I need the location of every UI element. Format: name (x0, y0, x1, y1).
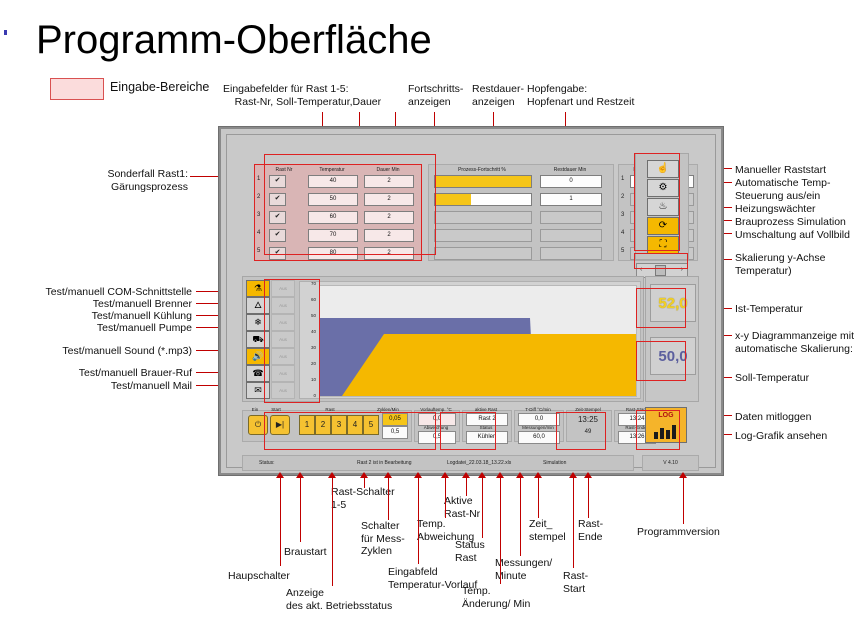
header-ein: Ein (246, 407, 264, 412)
callout-skalierung-y: Skalierung y-Achse Temperatur) (735, 252, 825, 277)
rast-temp-3[interactable]: 60 (308, 211, 358, 224)
braustart-button[interactable]: ▶| (270, 415, 290, 435)
leader-arrow (384, 472, 392, 478)
simulation-button[interactable]: ⟳ (647, 217, 679, 235)
leader-arrow (679, 472, 687, 478)
leader-line (300, 478, 301, 542)
leader-arrow (516, 472, 524, 478)
chevron-right-icon[interactable]: › (681, 265, 683, 274)
rast-checkbox-4[interactable]: ✔ (269, 229, 286, 242)
callout-braustart: Braustart (284, 546, 327, 559)
leader-arrow (441, 472, 449, 478)
callout-heizungswaechter: Heizungswächter (735, 203, 816, 216)
status-bar: Status: Rast 2 ist in Bearbeitung Logdat… (242, 455, 697, 469)
status-mode: Simulation (543, 456, 566, 470)
snowflake-icon: ❄ (254, 318, 262, 327)
status-slot-2: Aus (271, 297, 295, 314)
chart-y-tick: 30 (311, 345, 316, 350)
heizungswaechter-button[interactable]: ♨ (647, 198, 679, 216)
slider-thumb[interactable] (655, 265, 666, 276)
progress-bar-2 (434, 193, 532, 206)
status-label: Status: (259, 456, 275, 470)
progress-bar-3 (434, 211, 532, 224)
log-button-label: LOG (646, 408, 686, 422)
status-bar-main: Status: Rast 2 ist in Bearbeitung Logdat… (242, 455, 634, 471)
progress-bar-1 (434, 175, 532, 188)
callout-zeitstempel: Zeit_ stempel (529, 518, 566, 543)
bar-chart-icon (652, 423, 680, 439)
callout-restdauer: Restdauer- anzeigen (472, 83, 524, 108)
application-window[interactable]: Rast Nr Temperatur Dauer Min 1 ✔ 40 2 2 … (219, 127, 723, 475)
header-vorlauftemp: Vorlauftemp. °C (414, 407, 458, 412)
chart-y-tick: 50 (311, 313, 316, 318)
header-zeitstempel: Zeit-Stempel (566, 407, 610, 412)
leader-arrow (328, 472, 336, 478)
zyklen-value-top[interactable]: 0,05 (382, 413, 408, 426)
com-button[interactable]: ⚗ (246, 280, 270, 297)
leader-line (588, 478, 589, 518)
header-aktive-rast: aktive Rast (462, 407, 510, 412)
brauerruf-button[interactable]: ☎ (246, 365, 270, 382)
leader-line (364, 478, 365, 488)
rast-checkbox-1[interactable]: ✔ (269, 175, 286, 188)
leader-line (332, 478, 333, 586)
refresh-icon: ⟳ (659, 221, 667, 231)
mode-button-panel: ☝ ⚙ ♨ ⟳ ⛶ (635, 153, 689, 260)
rast-dauer-3[interactable]: 2 (364, 211, 414, 224)
rast-checkbox-3[interactable]: ✔ (269, 211, 286, 224)
callout-vollbild: Umschaltung auf Vollbild (735, 229, 850, 242)
leader-line (538, 478, 539, 518)
leader-arrow (534, 472, 542, 478)
header-abweichung: Abweichung (414, 425, 458, 430)
chart-y-tick: 10 (311, 377, 316, 382)
header-prozess-fortschritt: Prozess-Fortschritt % (432, 167, 532, 173)
header-restdauer: Restdauer Min (538, 167, 602, 173)
header-status-rast: Status (462, 425, 510, 430)
chevron-left-icon[interactable]: ‹ (640, 265, 642, 274)
leader-arrow (569, 472, 577, 478)
rast-button-5[interactable]: 5 (363, 415, 379, 435)
status-slot-1: Aus (271, 280, 295, 297)
leader-line (573, 478, 574, 568)
restdauer-3 (540, 211, 602, 224)
callout-haupschalter: Haupschalter (228, 570, 290, 583)
rast-dauer-1[interactable]: 2 (364, 175, 414, 188)
callout-xy-diagramm: x-y Diagrammanzeige mit automatische Ska… (735, 330, 854, 355)
temperature-chart[interactable]: 010203040506070 (299, 281, 641, 399)
hopfen-row-2: 2 (621, 194, 624, 200)
callout-test-com: Test/manuell COM-Schnittstelle (30, 286, 192, 299)
leader-line (280, 478, 281, 566)
sound-button[interactable]: 🔊 (246, 348, 270, 365)
leader-arrow (462, 472, 470, 478)
pumpe-button[interactable]: ⛟ (246, 331, 270, 348)
callout-daten-mitloggen: Daten mitloggen (735, 411, 811, 424)
status-slot-5: Aus (271, 348, 295, 365)
chart-y-tick: 40 (311, 329, 316, 334)
power-icon: ⏻ (255, 420, 261, 429)
plug-icon: ⚗ (254, 284, 262, 293)
chart-y-axis: 010203040506070 (302, 284, 318, 396)
chart-y-tick: 20 (311, 361, 316, 366)
rast-checkbox-2[interactable]: ✔ (269, 193, 286, 206)
header-temperatur: Temperatur (308, 167, 356, 173)
leader-line (445, 478, 446, 518)
callout-temp-aenderung: Temp. Änderung/ Min (462, 585, 530, 610)
callout-test-pumpe: Test/manuell Pumpe (30, 322, 192, 335)
legend-swatch (50, 78, 104, 100)
leader-arrow (496, 472, 504, 478)
callout-test-sound: Test/manuell Sound (*.mp3) (30, 345, 192, 358)
callout-brauprozess-simulation: Brauprozess Simulation (735, 216, 846, 229)
callout-schalter-mess-zyklen: Schalter für Mess- Zyklen (361, 520, 405, 558)
abweichung-value: 0,5 (418, 431, 456, 444)
leader-line (466, 478, 467, 496)
chart-y-tick: 0 (313, 393, 316, 398)
kuehlung-button[interactable]: ❄ (246, 314, 270, 331)
pump-icon: ⛟ (252, 335, 263, 344)
rast-button-2[interactable]: 2 (315, 415, 331, 435)
callout-messungen-minute: Messungen/ Minute (495, 557, 552, 582)
rast-checkbox-5[interactable]: ✔ (269, 247, 286, 260)
callout-hopfengabe: Hopfengabe: Hopfenart und Restzeit (527, 83, 634, 108)
status-slot-6: Aus (271, 365, 295, 382)
status-slot-3: Aus (271, 314, 295, 331)
rast-button-3[interactable]: 3 (331, 415, 347, 435)
hopfen-row-1: 1 (621, 176, 624, 182)
callout-programmversion: Programmversion (637, 526, 720, 539)
leader-arrow (414, 472, 422, 478)
hopfen-row-5: 5 (621, 248, 624, 254)
play-icon: ▶| (276, 420, 284, 429)
fullscreen-icon: ⛶ (660, 240, 667, 250)
mail-icon: ✉ (254, 386, 262, 395)
callout-anzeige-betriebsstatus: Anzeige des akt. Betriebsstatus (286, 587, 392, 612)
callout-fortschritt: Fortschritts- anzeigen (408, 83, 463, 108)
callout-aktive-rast-nr: Aktive Rast-Nr (444, 495, 480, 520)
leader-arrow (584, 472, 592, 478)
restdauer-4 (540, 229, 602, 242)
row-number: 2 (257, 194, 260, 200)
phone-icon: ☎ (252, 369, 263, 378)
rast-dauer-4[interactable]: 2 (364, 229, 414, 242)
vollbild-button[interactable]: ⛶ (647, 236, 679, 254)
rast-temp-4[interactable]: 70 (308, 229, 358, 242)
rast-table-block: Rast Nr Temperatur Dauer Min 1 ✔ 40 2 2 … (242, 153, 697, 258)
progress-bar-5 (434, 247, 532, 260)
application-panel: Rast Nr Temperatur Dauer Min 1 ✔ 40 2 2 … (226, 134, 716, 468)
series-ist-area (342, 334, 636, 396)
decorative-dot (4, 30, 7, 35)
chart-y-tick: 70 (311, 281, 316, 286)
status-message: Rast 2 ist in Bearbeitung (357, 456, 411, 470)
leader-arrow (478, 472, 486, 478)
header-rast: Rast (300, 407, 360, 412)
row-number: 5 (257, 248, 260, 254)
callout-test-brenner: Test/manuell Brenner (30, 298, 192, 311)
header-dauer: Dauer Min (364, 167, 412, 173)
rast-temp-5[interactable]: 80 (308, 247, 358, 260)
auto-temp-button[interactable]: ⚙ (647, 179, 679, 197)
temperature-readout-panel: 52,0 50,0 (645, 276, 699, 402)
restdauer-1: 0 (540, 175, 602, 188)
header-zyklen: Zyklen/Min (368, 407, 408, 412)
status-slot-4: Aus (271, 331, 295, 348)
zeitstempel-value: 13:25 (572, 415, 604, 424)
leader-line (482, 478, 483, 538)
header-rast-nr: Rast Nr (266, 167, 302, 173)
status-rast-value: Kühlen (466, 431, 508, 444)
callout-eingabefelder: Eingabefelder für Rast 1-5: Rast-Nr, Sol… (223, 83, 381, 108)
row-number: 1 (257, 176, 260, 182)
callout-manueller-raststart: Manueller Raststart (735, 164, 826, 177)
leader-line (418, 478, 419, 564)
rast-button-1[interactable]: 1 (299, 415, 315, 435)
chart-svg (320, 286, 636, 396)
row-number: 3 (257, 212, 260, 218)
callout-status-rast: Status Rast (455, 539, 485, 564)
ist-temperatur-value: 52,0 (650, 284, 696, 322)
status-version: V 4.10 (642, 455, 699, 471)
callout-test-kuehlung: Test/manuell Kühlung (30, 310, 192, 323)
chart-block: ⚗ 🜂 ❄ ⛟ 🔊 ☎ ✉ Aus Aus Aus Aus Aus Aus Au… (242, 276, 644, 402)
leader-arrow (296, 472, 304, 478)
rast-dauer-5[interactable]: 2 (364, 247, 414, 260)
callout-log-grafik: Log-Grafik ansehen (735, 430, 827, 443)
leader-arrow (360, 472, 368, 478)
hopfen-row-3: 3 (621, 212, 624, 218)
rast-temp-1[interactable]: 40 (308, 175, 358, 188)
rast-temp-2[interactable]: 50 (308, 193, 358, 206)
mail-button[interactable]: ✉ (246, 382, 270, 399)
header-tdiff: T-Diff °C/min (514, 407, 562, 412)
status-slot-7: Aus (271, 382, 295, 399)
log-button[interactable]: LOG (645, 407, 687, 443)
progress-bar-4 (434, 229, 532, 242)
page-title: Programm-Oberfläche (36, 18, 432, 63)
rast-dauer-2[interactable]: 2 (364, 193, 414, 206)
callout-auto-temp: Automatische Temp- Steuerung aus/ein (735, 177, 831, 202)
legend-label: Eingabe-Bereiche (110, 80, 209, 94)
header-start: Start (266, 407, 286, 412)
zyklen-value-bottom[interactable]: 0,5 (382, 426, 408, 439)
flame-icon: 🜂 (254, 301, 262, 310)
messungen-value: 60,0 (518, 431, 560, 444)
hopfen-row-4: 4 (621, 230, 624, 236)
leader-line (500, 478, 501, 584)
soll-temperatur-value: 50,0 (650, 337, 696, 375)
chart-plot-area (319, 285, 637, 397)
status-logfile: Logdatei_22.03.18_13.22.xls (447, 456, 511, 470)
hand-icon: ☝ (657, 164, 669, 174)
speaker-icon: 🔊 (252, 352, 263, 361)
leader-arrow (276, 472, 284, 478)
restdauer-5 (540, 247, 602, 260)
callout-sonderfall-rast1: Sonderfall Rast1: Gärungsprozess (28, 168, 188, 193)
row-number: 4 (257, 230, 260, 236)
callout-rast-start: Rast- Start (563, 570, 588, 595)
callout-soll-temperatur: Soll-Temperatur (735, 372, 809, 385)
zeitstempel-seconds: 49 (572, 429, 604, 435)
header-messungen: Messungen/min (514, 425, 562, 430)
heat-icon: ♨ (659, 202, 668, 212)
callout-test-mail: Test/manuell Mail (30, 380, 192, 393)
leader-line (520, 478, 521, 556)
callout-ist-temperatur: Ist-Temperatur (735, 303, 803, 316)
chart-y-tick: 60 (311, 297, 316, 302)
restdauer-2: 1 (540, 193, 602, 206)
control-bar: Ein Start Rast Zyklen/Min ⏻ ▶| 1 2 3 4 5… (242, 407, 697, 449)
brenner-button[interactable]: 🜂 (246, 297, 270, 314)
leader-line (388, 478, 389, 520)
gears-icon: ⚙ (659, 183, 668, 193)
rast-button-4[interactable]: 4 (347, 415, 363, 435)
leader-line (683, 478, 684, 524)
haupschalter-button[interactable]: ⏻ (248, 415, 268, 435)
callout-rast-schalter: Rast-Schalter 1-5 (331, 486, 395, 511)
callout-test-brauerruf: Test/manuell Brauer-Ruf (30, 367, 192, 380)
callout-rast-ende: Rast- Ende (578, 518, 603, 543)
manueller-raststart-button[interactable]: ☝ (647, 160, 679, 178)
manual-test-button-column: ⚗ 🜂 ❄ ⛟ 🔊 ☎ ✉ Aus Aus Aus Aus Aus Aus Au… (246, 280, 294, 397)
